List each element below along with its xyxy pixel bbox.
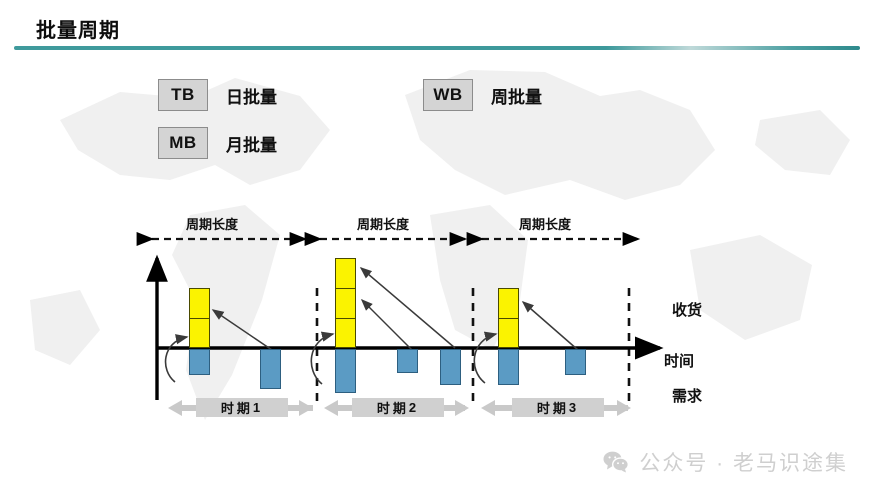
cycle-length-label-2: 周期长度: [357, 214, 409, 233]
legend-item-tb[interactable]: TB 日批量: [158, 79, 277, 111]
consume-arrow-4: [523, 302, 578, 350]
legend-item-mb[interactable]: MB 月批量: [158, 127, 277, 159]
legend-item-wb[interactable]: WB 周批量: [423, 79, 542, 111]
cycle-length-label-3: 周期长度: [519, 214, 571, 233]
legend-chip-tb: TB: [158, 79, 208, 111]
legend-chip-mb: MB: [158, 127, 208, 159]
period-chip-number: 1: [253, 400, 263, 415]
legend-label-wb: 周批量: [491, 83, 542, 108]
demand-bar-3: [335, 349, 356, 393]
axis-label-demand: 需求: [672, 385, 702, 406]
consume-arrow-1: [213, 310, 272, 350]
period-chip-1: 时期 1: [196, 398, 288, 417]
trigger-arc-3: [474, 334, 496, 383]
wechat-icon: [603, 451, 629, 473]
period-chip-3: 时期 3: [512, 398, 604, 417]
watermark: 公众号 · 老马识途集: [603, 447, 848, 477]
consume-arrow-2: [362, 300, 412, 350]
demand-bar-7: [565, 349, 586, 375]
period-chip-name: 时期: [537, 398, 569, 417]
batch-cycle-diagram: [0, 0, 872, 491]
demand-bar-1: [189, 349, 210, 375]
demand-bar-6: [498, 349, 519, 385]
period-chip-name: 时期: [221, 398, 253, 417]
demand-bar-2: [260, 349, 281, 389]
demand-bar-5: [440, 349, 461, 385]
receipt-bar-period-2: [335, 258, 356, 348]
page-title: 批量周期: [36, 14, 120, 43]
axis-label-time: 时间: [664, 350, 694, 371]
trigger-arc-2: [311, 334, 333, 384]
receipt-bar-segment-line: [499, 318, 518, 319]
trigger-arc-1: [166, 337, 187, 382]
demand-bar-4: [397, 349, 418, 373]
legend-chip-wb: WB: [423, 79, 473, 111]
consume-arrow-3: [361, 268, 455, 348]
receipt-bar-segment-line: [336, 318, 355, 319]
period-chip-name: 时期: [377, 398, 409, 417]
axis-label-receipt: 收货: [672, 299, 702, 320]
title-divider: [14, 46, 860, 50]
period-chip-number: 3: [569, 400, 579, 415]
cycle-length-label-1: 周期长度: [186, 214, 238, 233]
receipt-bar-segment-line: [336, 288, 355, 289]
period-chip-number: 2: [409, 400, 419, 415]
legend-label-tb: 日批量: [226, 83, 277, 108]
legend-label-mb: 月批量: [226, 131, 277, 156]
receipt-bar-period-3: [498, 288, 519, 348]
receipt-bar-period-1: [189, 288, 210, 348]
period-chip-2: 时期 2: [352, 398, 444, 417]
watermark-text: 公众号 · 老马识途集: [639, 447, 848, 477]
receipt-bar-segment-line: [190, 318, 209, 319]
